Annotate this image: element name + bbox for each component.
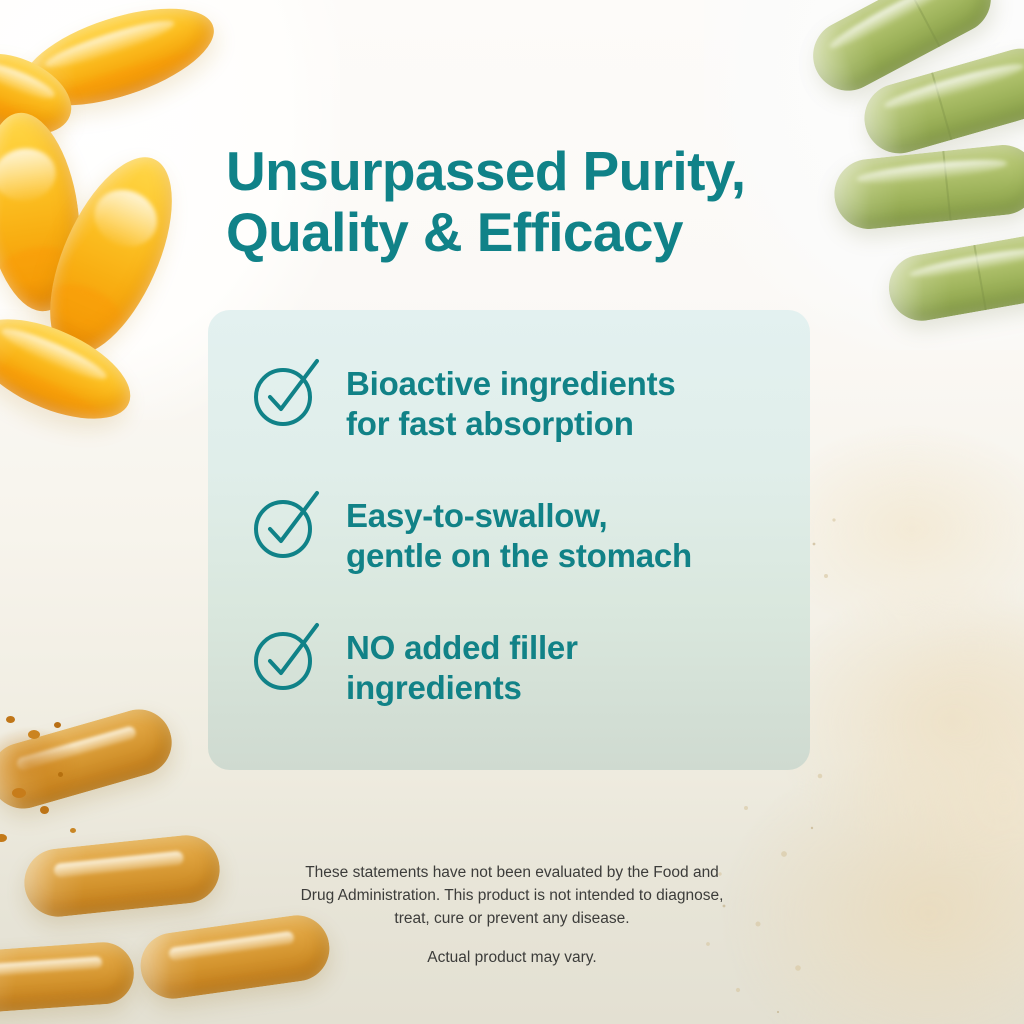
turmeric-capsule	[0, 940, 136, 1014]
softgel-capsule	[0, 107, 91, 318]
softgel-capsule	[11, 0, 225, 125]
check-circle-icon	[250, 620, 324, 694]
benefits-card: Bioactive ingredients for fast absorptio…	[208, 310, 810, 770]
softgel-capsule	[25, 140, 197, 372]
softgel-capsule	[0, 38, 83, 150]
headline-line-2: Quality & Efficacy	[226, 202, 846, 264]
turmeric-powder-spill	[0, 706, 120, 836]
check-circle-icon	[250, 356, 324, 430]
headline-line-1: Unsurpassed Purity,	[226, 140, 745, 202]
benefit-label: Easy-to-swallow, gentle on the stomach	[346, 492, 692, 575]
product-variance-note: Actual product may vary.	[212, 949, 812, 967]
softgel-capsule	[0, 299, 145, 439]
check-circle-icon	[250, 488, 324, 562]
product-benefits-infographic: Unsurpassed Purity, Quality & Efficacy B…	[0, 0, 1024, 1024]
green-capsule	[856, 40, 1024, 161]
benefit-label: Bioactive ingredients for fast absorptio…	[346, 360, 676, 443]
benefit-label: NO added filler ingredients	[346, 624, 578, 707]
green-capsule	[884, 228, 1024, 326]
page-title: Unsurpassed Purity, Quality & Efficacy	[226, 141, 846, 264]
benefit-item: Easy-to-swallow, gentle on the stomach	[250, 492, 692, 575]
turmeric-capsule	[0, 702, 179, 817]
benefit-item: NO added filler ingredients	[250, 624, 578, 707]
green-capsule	[831, 142, 1024, 233]
green-capsule	[801, 0, 1003, 103]
fda-disclaimer: These statements have not been evaluated…	[212, 861, 812, 931]
benefit-item: Bioactive ingredients for fast absorptio…	[250, 360, 676, 443]
turmeric-capsule	[21, 832, 223, 920]
